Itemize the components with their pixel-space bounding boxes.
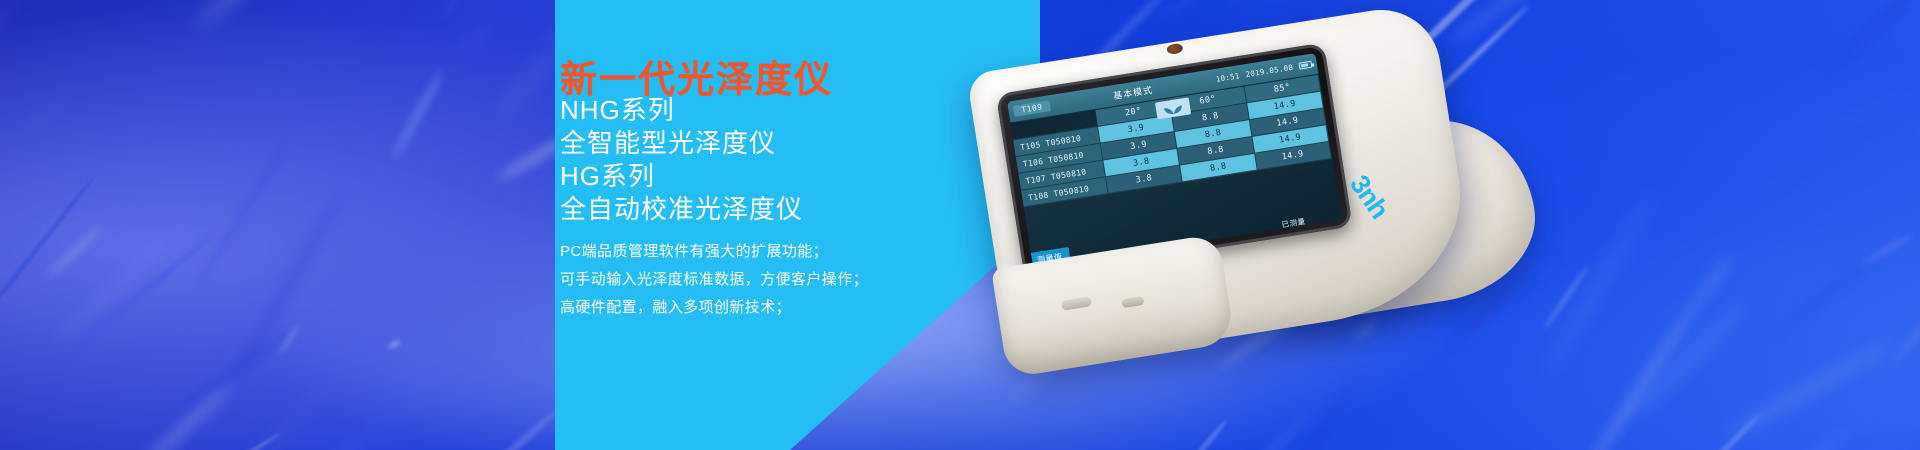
series-line-1: NHG系列 [560, 94, 803, 127]
device-shell: T109 基本模式 10:51 2019.05.08 [966, 1, 1477, 371]
feature-line-1: PC端品质管理软件有强大的扩展功能； [560, 238, 868, 266]
clock: 10:51 [1215, 71, 1240, 84]
feature-line-2: 可手动输入光泽度标准数据，方便客户操作； [560, 266, 868, 294]
series-line-3: HG系列 [560, 160, 803, 193]
done-label: 已测量 [1275, 213, 1313, 233]
promo-banner: 新一代光泽度仪 NHG系列 全智能型光泽度仪 HG系列 全自动校准光泽度仪 PC… [0, 0, 1920, 450]
feature-line-3: 高硬件配置，融入多项创新技术； [560, 294, 868, 322]
lens-indicator [1166, 43, 1183, 55]
battery-icon [1298, 61, 1312, 70]
sample-tag: T109 [1013, 100, 1052, 117]
device-screen: T109 基本模式 10:51 2019.05.08 [1007, 53, 1341, 268]
date: 2019.05.08 [1245, 63, 1294, 79]
gloss-meter-device: T109 基本模式 10:51 2019.05.08 [880, 18, 1500, 418]
feature-paragraph: PC端品质管理软件有强大的扩展功能； 可手动输入光泽度标准数据，方便客户操作； … [560, 238, 868, 322]
product-series-list: NHG系列 全智能型光泽度仪 HG系列 全自动校准光泽度仪 [560, 94, 803, 226]
series-line-2: 全智能型光泽度仪 [560, 127, 803, 160]
series-line-4: 全自动校准光泽度仪 [560, 193, 803, 226]
